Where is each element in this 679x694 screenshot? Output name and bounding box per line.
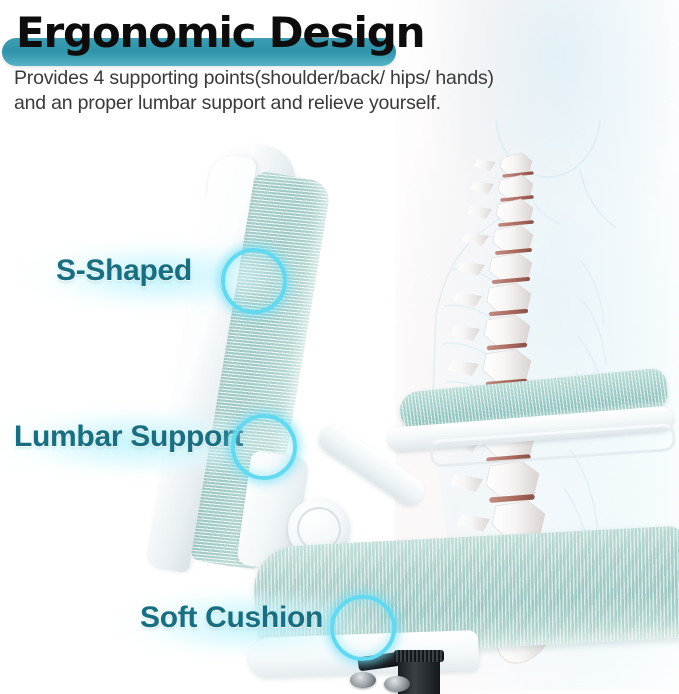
callout-ring-lumbar-support	[231, 414, 297, 480]
page-title: Ergonomic Design	[16, 8, 424, 57]
chair-cylinder-collar	[394, 650, 444, 662]
callout-label-lumbar-support: Lumbar Support	[14, 420, 243, 454]
chair-caster	[384, 676, 410, 692]
callout-ring-s-shaped	[221, 248, 287, 314]
callout-lumbar-support: Lumbar Support	[0, 404, 229, 438]
chair-caster	[350, 672, 376, 688]
callout-ring-soft-cushion	[330, 595, 396, 661]
subtitle-line-2: and an proper lumbar support and relieve…	[14, 91, 614, 116]
callout-s-shaped: S-Shaped	[0, 236, 136, 270]
callout-label-soft-cushion: Soft Cushion	[140, 601, 323, 635]
page-subtitle: Provides 4 supporting points(shoulder/ba…	[14, 66, 614, 116]
callout-label-s-shaped: S-Shaped	[56, 254, 192, 288]
product-feature-image: Ergonomic Design Provides 4 supporting p…	[0, 0, 679, 694]
subtitle-line-1: Provides 4 supporting points(shoulder/ba…	[14, 66, 614, 91]
callout-soft-cushion: Soft Cushion	[0, 583, 183, 617]
